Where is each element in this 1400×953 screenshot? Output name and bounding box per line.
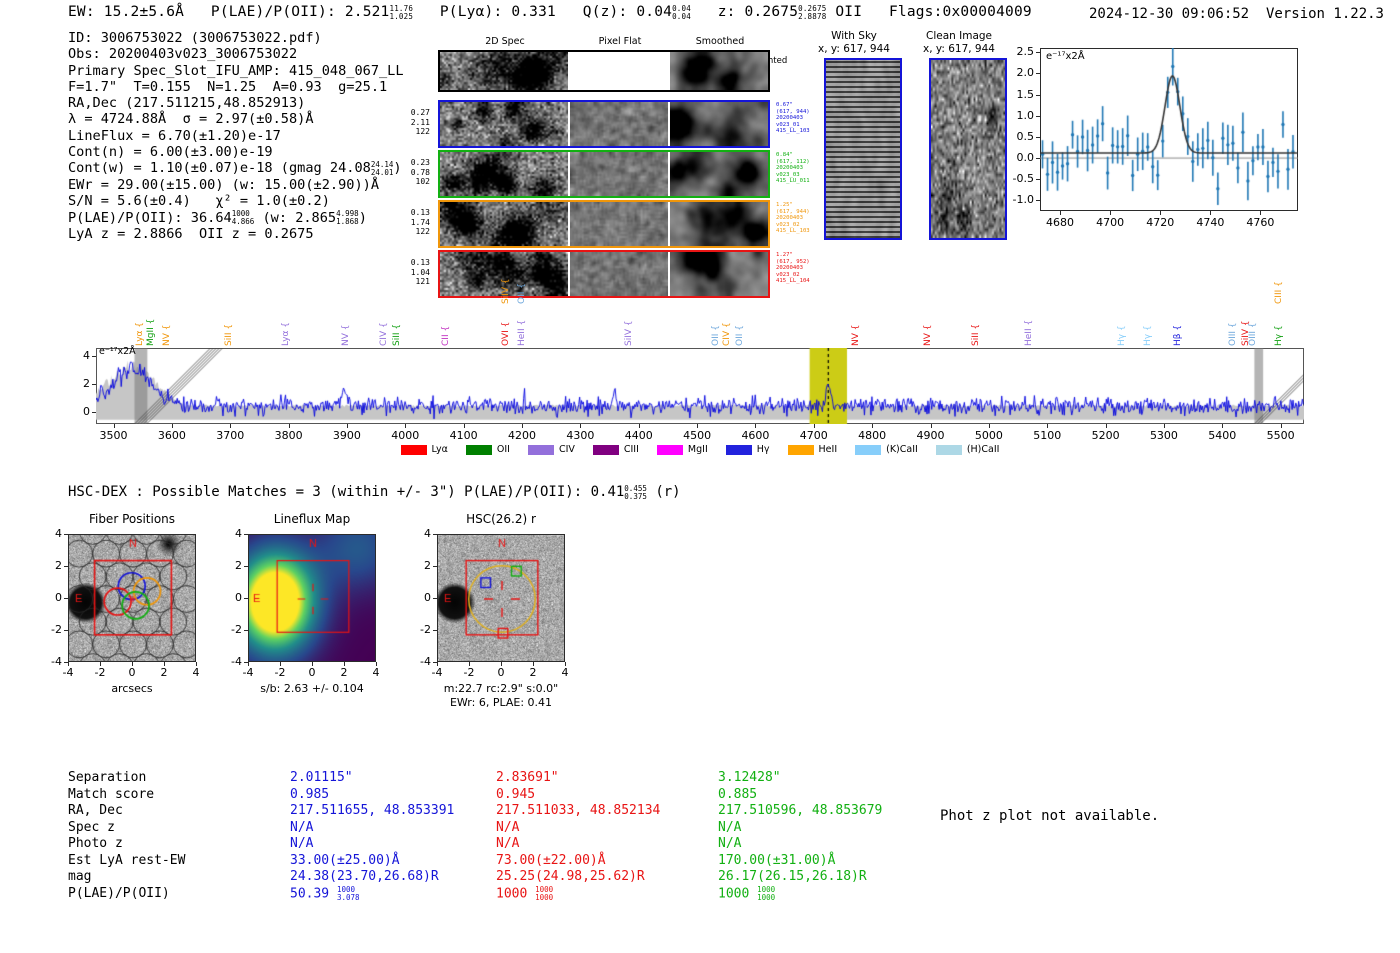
strip-stat: 122 — [396, 227, 430, 237]
tick-mark — [1036, 116, 1040, 117]
legend-item: OII — [466, 444, 510, 455]
tick-mark — [433, 630, 437, 631]
xtick-label: 4680 — [1038, 216, 1082, 229]
xtick-label: 4 — [356, 666, 396, 679]
legend-item: Hγ — [726, 444, 770, 455]
strip-stat: 0.13 — [396, 208, 430, 218]
header-z: z: 0.2675 — [718, 4, 798, 20]
table-row-labels: SeparationMatch scoreRA, DecSpec zPhoto … — [68, 770, 185, 902]
ytick-label: 4 — [409, 527, 431, 540]
table-cell: 170.00(±31.00)Å — [718, 853, 882, 870]
strip-stat: 102 — [396, 177, 430, 187]
table-cell-value: 1000 — [496, 886, 535, 901]
hscdex-title: HSC-DEX : Possible Matches = 3 (within +… — [68, 484, 624, 500]
strip-smoothed — [670, 102, 768, 146]
ytick-label: 0.0 — [996, 151, 1034, 164]
ytick-label: 2 — [68, 377, 90, 390]
tick-mark — [244, 630, 248, 631]
strip-meta-line: (617, 952) — [776, 259, 836, 266]
legend-label: Hγ — [757, 444, 770, 455]
strip-2dspec — [440, 152, 568, 196]
xtick-label: 3600 — [146, 429, 198, 442]
xtick-label: 4800 — [846, 429, 898, 442]
tick-mark — [405, 424, 406, 428]
table-cell: 0.985 — [290, 787, 454, 804]
info-line-radec: RA,Dec (217.511215,48.852913) — [68, 95, 404, 111]
panel-title: Lineflux Map — [232, 512, 392, 526]
tick-mark — [64, 662, 68, 663]
header-z-line: OII — [835, 4, 862, 20]
ytick-label: 1.5 — [996, 88, 1034, 101]
xtick-label: 4900 — [905, 429, 957, 442]
ytick-label: -1.0 — [996, 193, 1034, 206]
tick-mark — [697, 424, 698, 428]
strip-stat: 1.74 — [396, 218, 430, 228]
table-cell: 24.38(23.70,26.68)R — [290, 869, 454, 886]
strip-stat: 0.13 — [396, 258, 430, 268]
legend-swatch — [788, 445, 814, 455]
info-line-ewr: EWr = 29.00(±15.00) (w: 15.00(±2.90))Å — [68, 177, 404, 193]
xtick-label: 4600 — [729, 429, 781, 442]
hscdex-range: 0.4550.375 — [624, 485, 647, 501]
tick-mark — [1036, 137, 1040, 138]
tick-mark — [1036, 73, 1040, 74]
info-line-contn: Cont(n) = 6.00(±3.00)e-19 — [68, 144, 404, 160]
fiber-positions-image[interactable] — [68, 534, 196, 662]
ytick-label: 1.0 — [996, 109, 1034, 122]
xtick-label: 4 — [176, 666, 216, 679]
xtick-label: 4700 — [788, 429, 840, 442]
header-qz-range: 0.040.04 — [672, 5, 691, 21]
header-flags: Flags:0x00004009 — [889, 4, 1032, 20]
emission-line-label: HeII { — [517, 298, 527, 346]
emission-line-label: OIII { — [1248, 298, 1258, 346]
table-cell: 73.00(±22.00)Å — [496, 853, 660, 870]
xtick-label: 3800 — [263, 429, 315, 442]
cutout-title: With Sky — [799, 30, 909, 42]
header-datetime: 2024-12-30 09:06:52 — [1089, 6, 1249, 22]
emission-line-label: Hβ { — [1173, 298, 1183, 346]
legend-item: (K)CaII — [855, 444, 918, 455]
ytick-label: 2 — [220, 559, 242, 572]
xtick-label: 4740 — [1188, 216, 1232, 229]
table-column-3: 3.12428"0.885217.510596, 48.853679N/AN/A… — [718, 770, 882, 902]
tick-mark — [1210, 211, 1211, 215]
table-cell: N/A — [290, 836, 454, 853]
weighted-sum-smoothed — [670, 52, 768, 90]
emission-line-label: Hγ { — [1117, 298, 1127, 346]
table-cell: 3.12428" — [718, 770, 882, 787]
photz-note: Phot z plot not available. — [940, 808, 1159, 824]
ytick-label: 2 — [409, 559, 431, 572]
strip-stat: 2.11 — [396, 118, 430, 128]
strip-left-stats: 0.131.74122 — [396, 208, 430, 237]
strip-stat: 0.78 — [396, 168, 430, 178]
legend-swatch — [657, 445, 683, 455]
panel-caption: s/b: 2.63 +/- 0.104 — [212, 682, 412, 695]
info-line-obs: Obs: 20200403v023_3006753022 — [68, 46, 404, 62]
emission-line-label: SiII { — [224, 298, 234, 346]
header-summary-line: EW: 15.2±5.6Å P(LAE)/P(OII): 2.52111.761… — [68, 4, 1032, 21]
tick-mark — [230, 424, 231, 428]
info-line-slot: Primary Spec_Slot_IFU_AMP: 415_048_067_L… — [68, 63, 404, 79]
ytick-label: 4 — [68, 349, 90, 362]
full-spectrum-plot: e⁻¹⁷x2Å — [96, 348, 1304, 424]
panel-canvas — [249, 535, 376, 662]
emission-line-label: NV { — [851, 298, 861, 346]
tick-mark — [755, 424, 756, 428]
emission-line-label: OIII { — [1228, 298, 1238, 346]
tick-mark — [433, 534, 437, 535]
cutout-title: Clean Image — [904, 30, 1014, 42]
strip-pixelflat — [570, 252, 668, 296]
info-line-lineflux: LineFlux = 6.70(±1.20)e-17 — [68, 128, 404, 144]
legend-swatch — [528, 445, 554, 455]
spec-strip-row — [438, 150, 770, 198]
ytick-label: -4 — [40, 655, 62, 668]
tick-mark — [347, 424, 348, 428]
emission-line-label: SiIV { — [501, 258, 511, 304]
header-timestamp-version: 2024-12-30 09:06:52 Version 1.22.3 — [1089, 6, 1384, 22]
info-line-lambda: λ = 4724.88Å σ = 2.97(±0.58)Å — [68, 111, 404, 127]
tick-mark — [64, 534, 68, 535]
legend-item: CIV — [528, 444, 575, 455]
strip-meta-line: 415_LL_104 — [776, 278, 836, 285]
strip-pixelflat — [570, 202, 668, 246]
tick-mark — [92, 384, 96, 385]
table-cell: N/A — [718, 836, 882, 853]
table-cell: 2.83691" — [496, 770, 660, 787]
cutout-with-sky — [824, 58, 902, 240]
table-cell: 1000 10001000 — [718, 886, 882, 903]
spec-strip-row — [438, 250, 770, 298]
xtick-label: 4100 — [438, 429, 490, 442]
xtick-label: 5000 — [963, 429, 1015, 442]
xtick-label: 4400 — [613, 429, 665, 442]
tick-mark — [464, 424, 465, 428]
xtick-label: 4000 — [379, 429, 431, 442]
table-cell-range: 10003.078 — [337, 886, 360, 902]
panel-xlabel: arcsecs — [32, 682, 232, 695]
strip-stat: 121 — [396, 277, 430, 287]
tick-mark — [64, 598, 68, 599]
table-cell: 217.511033, 48.852134 — [496, 803, 660, 820]
tick-mark — [1281, 424, 1282, 428]
table-cell-range: 10001000 — [535, 886, 553, 902]
emission-line-label: NV { — [162, 298, 172, 346]
table-cell: 25.25(24.98,25.62)R — [496, 869, 660, 886]
xtick-label: 5300 — [1138, 429, 1190, 442]
emission-line-label: CII { — [441, 298, 451, 346]
ytick-label: 4 — [220, 527, 242, 540]
weighted-sum-strip — [438, 50, 770, 92]
line-plot-unit: e⁻¹⁷x2Å — [1046, 51, 1085, 62]
lineflux-map-image[interactable] — [248, 534, 376, 662]
ytick-label: -2 — [40, 623, 62, 636]
spectrum-legend: LyαOIICIVCIIIMgIIHγHeII(K)CaII(H)CaII — [0, 444, 1400, 455]
info-line-redshift: LyA z = 2.8866 OII z = 0.2675 — [68, 226, 404, 242]
legend-swatch — [401, 445, 427, 455]
legend-item: CIII — [593, 444, 639, 455]
cutout-coords: x, y: 617, 944 — [799, 43, 909, 55]
tick-mark — [989, 424, 990, 428]
emission-line-label: HeII { — [1024, 298, 1034, 346]
tick-mark — [1106, 424, 1107, 428]
table-cell-value: 1000 — [718, 886, 757, 901]
tick-mark — [433, 662, 437, 663]
legend-swatch — [726, 445, 752, 455]
panel-canvas — [69, 535, 196, 662]
xtick-label: 3700 — [204, 429, 256, 442]
spec-strip-row — [438, 100, 770, 148]
legend-item: HeII — [788, 444, 838, 455]
tick-mark — [1036, 95, 1040, 96]
strip-2dspec — [440, 202, 568, 246]
xtick-label: 3900 — [321, 429, 373, 442]
source-info-block: ID: 3006753022 (3006753022.pdf) Obs: 202… — [68, 30, 404, 243]
header-plae-label: P(LAE)/P(OII): 2.521 — [211, 4, 390, 20]
emission-line-label: CIV { — [379, 298, 389, 346]
tick-mark — [639, 424, 640, 428]
tick-mark — [92, 356, 96, 357]
table-row-label: Separation — [68, 770, 185, 787]
col-header-smoothed: Smoothed — [670, 36, 770, 47]
legend-label: HeII — [819, 444, 838, 455]
ytick-label: 2 — [40, 559, 62, 572]
table-cell: 33.00(±25.00)Å — [290, 853, 454, 870]
xtick-label: 5400 — [1196, 429, 1248, 442]
emission-line-label: OII { — [711, 298, 721, 346]
table-cell: 26.17(26.15,26.18)R — [718, 869, 882, 886]
tick-mark — [1036, 158, 1040, 159]
strip-smoothed — [670, 152, 768, 196]
panel-caption: m:22.7 rc:2.9" s:0.0" — [401, 682, 601, 695]
ytick-label: 0 — [409, 591, 431, 604]
ytick-label: -4 — [220, 655, 242, 668]
table-cell: 50.39 10003.078 — [290, 886, 454, 903]
tick-mark — [244, 534, 248, 535]
xtick-label: 4300 — [554, 429, 606, 442]
tick-mark — [433, 566, 437, 567]
header-z-range: 0.26752.8878 — [798, 5, 826, 21]
xtick-label: 5100 — [1021, 429, 1073, 442]
strip-left-stats: 0.230.78102 — [396, 158, 430, 187]
emission-line-label: MgII { — [146, 298, 156, 346]
emission-line-label: Hγ { — [1143, 298, 1153, 346]
panel-title: HSC(26.2) r — [421, 512, 581, 526]
tick-mark — [244, 598, 248, 599]
strip-meta-line: 1.27" — [776, 252, 836, 259]
col-header-pixelflat: Pixel Flat — [570, 36, 670, 47]
spectrum-canvas — [96, 348, 1304, 424]
strip-stat: 1.04 — [396, 268, 430, 278]
panel-caption-2: EWr: 6, PLAE: 0.41 — [401, 696, 601, 709]
line-profile-plot: e⁻¹⁷x2Å 46804700472047404760 2.52.01.51.… — [1040, 48, 1298, 211]
ytick-label: 0.5 — [996, 130, 1034, 143]
table-column-2: 2.83691"0.945217.511033, 48.852134N/AN/A… — [496, 770, 660, 902]
strip-smoothed — [670, 202, 768, 246]
table-cell: 1000 10001000 — [496, 886, 660, 903]
table-cell: N/A — [496, 820, 660, 837]
emission-line-label: Lyα { — [281, 298, 291, 346]
xtick-label: 4500 — [671, 429, 723, 442]
tick-mark — [1036, 52, 1040, 53]
legend-item: (H)CaII — [936, 444, 1000, 455]
xtick-label: 3500 — [88, 429, 140, 442]
table-cell: 0.945 — [496, 787, 660, 804]
ytick-label: -4 — [409, 655, 431, 668]
table-cell: 2.01115" — [290, 770, 454, 787]
emission-line-label: Lyα { — [135, 298, 145, 346]
emission-line-label: Hγ { — [1274, 298, 1284, 346]
xtick-label: 4700 — [1088, 216, 1132, 229]
legend-label: CIV — [559, 444, 575, 455]
ytick-label: 2.5 — [996, 45, 1034, 58]
header-version: Version 1.22.3 — [1266, 6, 1384, 22]
tick-mark — [289, 424, 290, 428]
ytick-label: 0 — [220, 591, 242, 604]
emission-line-label: OVI { — [501, 298, 511, 346]
tick-mark — [172, 424, 173, 428]
table-cell-range: 10001000 — [757, 886, 775, 902]
xtick-label: 4760 — [1238, 216, 1282, 229]
tick-mark — [1222, 424, 1223, 428]
ytick-label: -0.5 — [996, 172, 1034, 185]
strip-pixelflat — [570, 152, 668, 196]
tick-mark — [872, 424, 873, 428]
tick-mark — [1036, 200, 1040, 201]
ytick-label: 0 — [68, 405, 90, 418]
table-cell: N/A — [718, 820, 882, 837]
header-plya: P(Lyα): 0.331 — [440, 4, 556, 20]
hscdex-summary: HSC-DEX : Possible Matches = 3 (within +… — [68, 484, 681, 501]
ytick-label: 4 — [40, 527, 62, 540]
tick-mark — [1047, 424, 1048, 428]
legend-swatch — [466, 445, 492, 455]
ytick-label: -2 — [220, 623, 242, 636]
header-ew: EW: 15.2±5.6Å — [68, 4, 184, 20]
tick-mark — [580, 424, 581, 428]
xtick-label: 5200 — [1080, 429, 1132, 442]
header-qz: Q(z): 0.04 — [583, 4, 672, 20]
weighted-sum-2dspec — [440, 52, 568, 90]
emission-line-label: SiII { — [971, 298, 981, 346]
legend-swatch — [855, 445, 881, 455]
legend-label: Lyα — [432, 444, 448, 455]
legend-item: Lyα — [401, 444, 448, 455]
strip-left-stats: 0.131.04121 — [396, 258, 430, 287]
legend-swatch — [593, 445, 619, 455]
info-line-plae: P(LAE)/P(OII): 36.6410004.866 (w: 2.8654… — [68, 210, 404, 227]
tick-mark — [1260, 211, 1261, 215]
legend-label: OII — [497, 444, 510, 455]
emission-line-label: SiIV { — [624, 298, 634, 346]
tick-mark — [1110, 211, 1111, 215]
tick-mark — [1036, 179, 1040, 180]
table-column-1: 2.01115"0.985217.511655, 48.853391N/AN/A… — [290, 770, 454, 902]
strip-right-meta: 1.27"(617, 952)20200403v023_02415_LL_104 — [776, 252, 836, 285]
table-row-label: RA, Dec — [68, 803, 185, 820]
header-plae-range: 11.761.025 — [390, 5, 414, 21]
col-header-2dspec: 2D Spec — [440, 36, 570, 47]
ytick-label: -2 — [409, 623, 431, 636]
emission-line-label: OII { — [735, 298, 745, 346]
strip-left-stats: 0.272.11122 — [396, 108, 430, 137]
table-row-label: P(LAE)/P(OII) — [68, 886, 185, 903]
tick-mark — [814, 424, 815, 428]
hsc-r-band-image[interactable] — [437, 534, 565, 662]
xtick-label: 4 — [545, 666, 585, 679]
info-line-seeing: F=1.7" T=0.155 N=1.25 A=0.93 g=25.1 — [68, 79, 404, 95]
ytick-label: 2.0 — [996, 66, 1034, 79]
tick-mark — [931, 424, 932, 428]
strip-stat: 122 — [396, 127, 430, 137]
xtick-label: 4720 — [1138, 216, 1182, 229]
tick-mark — [92, 412, 96, 413]
table-row-label: mag — [68, 869, 185, 886]
legend-item: MgII — [657, 444, 708, 455]
spec-strip-row — [438, 200, 770, 248]
strip-smoothed — [670, 252, 768, 296]
legend-label: (H)CaII — [967, 444, 1000, 455]
table-cell: 217.511655, 48.853391 — [290, 803, 454, 820]
panel-title: Fiber Positions — [52, 512, 212, 526]
line-plot-canvas — [1040, 48, 1298, 211]
emission-line-label: CIV { — [722, 298, 732, 346]
info-line-id: ID: 3006753022 (3006753022.pdf) — [68, 30, 404, 46]
table-row-label: Est LyA rest-EW — [68, 853, 185, 870]
tick-mark — [114, 424, 115, 428]
emission-line-label: OII { — [517, 258, 527, 304]
cutout-clean-image — [929, 58, 1007, 240]
strip-stat: 0.27 — [396, 108, 430, 118]
tick-mark — [1060, 211, 1061, 215]
table-row-label: Photo z — [68, 836, 185, 853]
tick-mark — [244, 662, 248, 663]
table-cell-value: 50.39 — [290, 886, 337, 901]
strip-meta-line: 20200403 — [776, 265, 836, 272]
legend-label: MgII — [688, 444, 708, 455]
tick-mark — [1160, 211, 1161, 215]
strip-pixelflat — [570, 102, 668, 146]
panel-canvas — [438, 535, 565, 662]
tick-mark — [64, 630, 68, 631]
spectrum-unit: e⁻¹⁷x2Å — [99, 346, 136, 357]
strip-meta-line: v023_02 — [776, 272, 836, 279]
strip-stat: 0.23 — [396, 158, 430, 168]
tick-mark — [1164, 424, 1165, 428]
emission-line-label: CIII { — [1274, 258, 1284, 304]
xtick-label: 5500 — [1255, 429, 1307, 442]
tick-mark — [244, 566, 248, 567]
emission-line-label: NV { — [923, 298, 933, 346]
ytick-label: 0 — [40, 591, 62, 604]
tick-mark — [433, 598, 437, 599]
strip-2dspec — [440, 102, 568, 146]
table-row-label: Spec z — [68, 820, 185, 837]
table-cell: 0.885 — [718, 787, 882, 804]
table-cell: N/A — [290, 820, 454, 837]
info-line-contw: Cont(w) = 1.10(±0.07)e-18 (gmag 24.0824.… — [68, 160, 404, 177]
table-cell: 217.510596, 48.853679 — [718, 803, 882, 820]
legend-label: (K)CaII — [886, 444, 918, 455]
hscdex-filter: (r) — [655, 484, 680, 500]
table-row-label: Match score — [68, 787, 185, 804]
tick-mark — [64, 566, 68, 567]
table-cell: N/A — [496, 836, 660, 853]
xtick-label: 4200 — [496, 429, 548, 442]
emission-line-label: SiII { — [392, 298, 402, 346]
